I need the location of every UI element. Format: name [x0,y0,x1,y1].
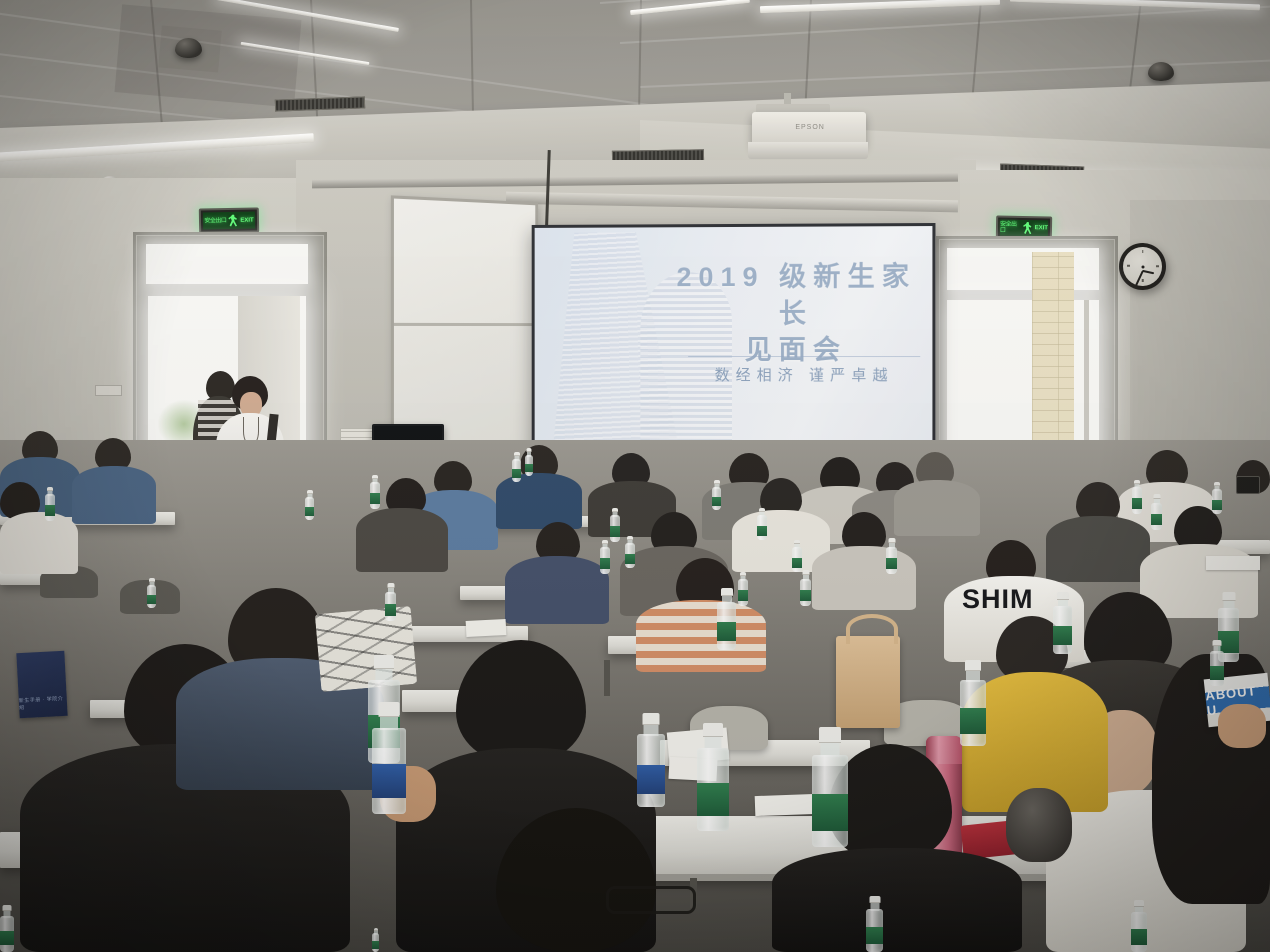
bottle-body [1212,489,1222,514]
bottle-label [305,507,314,516]
water-bottle [372,702,406,814]
bottle-cap [1057,592,1069,600]
water-bottle [738,572,748,606]
bottle-label [625,554,635,564]
bottle-label [372,941,379,949]
bottle-body [525,455,533,476]
bottle-body [1132,487,1142,514]
bottle-label [1131,929,1147,945]
bottle-cap [643,713,660,725]
bottle-cap [965,660,981,671]
bottle-label [512,469,521,478]
bottle-label [757,526,767,536]
water-bottle [372,928,379,952]
lecture-hall-photo: EPSON 安全出口 EXIT 安全出口 EXIT [0,0,1270,952]
bottle-body [372,933,379,952]
bottle-body [886,547,897,574]
bottle-body [600,547,610,574]
bottle-body [757,515,767,540]
bottle-body [717,602,736,650]
bottle-body [960,680,986,746]
bottle-body [147,585,156,608]
bottle-body [0,916,14,952]
water-bottle [637,713,665,807]
bottle-cap [379,702,400,717]
bottle-cap [374,655,394,669]
bottle-label [385,604,396,616]
bottle-label [717,622,736,641]
water-bottle [625,536,635,568]
bottle-body [625,543,635,568]
water-bottle [717,588,736,650]
bottle-body [1210,651,1224,686]
bottle-body [792,547,802,572]
bottle-body [697,748,729,831]
bottle-label [0,931,14,945]
water-bottle [610,508,620,542]
bottle-body [800,579,811,606]
bottle-label [1210,666,1224,680]
water-bottle [1053,592,1072,654]
bottle-body [385,592,396,621]
bottle-cap [721,588,733,596]
bottle-cap [819,727,841,743]
bottle-body [712,487,721,510]
water-bottle [0,905,14,952]
water-bottle [886,538,897,574]
bottle-cap [1134,900,1144,907]
bottle-body [45,494,55,521]
bottle-body [1053,606,1072,654]
water-bottle [960,660,986,746]
bottle-label [697,783,729,816]
bottle-label [712,497,721,506]
bottle-body [372,728,406,814]
water-bottle [370,475,380,509]
bottle-label [45,505,55,516]
bottle-label [1132,498,1142,509]
water-bottle [866,896,883,952]
bottle-body [738,579,748,606]
bottle-label [960,708,986,734]
water-bottle [697,723,729,831]
bottle-cap [703,723,723,737]
bottle-label [812,794,848,831]
water-bottle [792,540,802,572]
water-bottle [1212,482,1222,514]
water-bottle [1131,900,1147,952]
water-bottle [600,540,610,574]
bottle-label [610,526,620,537]
bottle-label [800,590,811,601]
bottle-body [1151,503,1162,530]
bottle-label [372,764,406,798]
bottles-layer [0,0,1270,952]
bottle-cap [1222,592,1235,601]
bottle-body [866,909,883,952]
bottle-label [370,493,380,504]
bottle-label [525,464,533,472]
water-bottle [1132,480,1142,514]
bottle-body [637,734,665,807]
bottle-label [738,590,748,601]
water-bottle [1210,640,1224,686]
bottle-label [792,558,802,568]
water-bottle [1151,494,1162,530]
bottle-body [305,497,314,520]
bottle-body [512,459,521,482]
water-bottle [385,583,396,621]
bottle-body [812,755,848,847]
bottle-body [370,482,380,509]
water-bottle [512,452,521,482]
bottle-label [1053,626,1072,645]
bottle-body [610,515,620,542]
water-bottle [757,508,767,540]
water-bottle [712,480,721,510]
water-bottle [45,487,55,521]
water-bottle [800,570,811,606]
bottle-label [147,595,156,604]
bottle-body [1131,912,1147,952]
bottle-label [637,765,665,794]
bottle-cap [869,896,880,903]
bottle-label [600,558,610,569]
water-bottle [812,727,848,847]
bottle-label [1212,500,1222,510]
water-bottle [525,448,533,476]
water-bottle [147,578,156,608]
water-bottle [305,490,314,520]
bottle-label [866,927,883,944]
bottle-label [1151,514,1162,525]
bottle-label [886,558,897,569]
